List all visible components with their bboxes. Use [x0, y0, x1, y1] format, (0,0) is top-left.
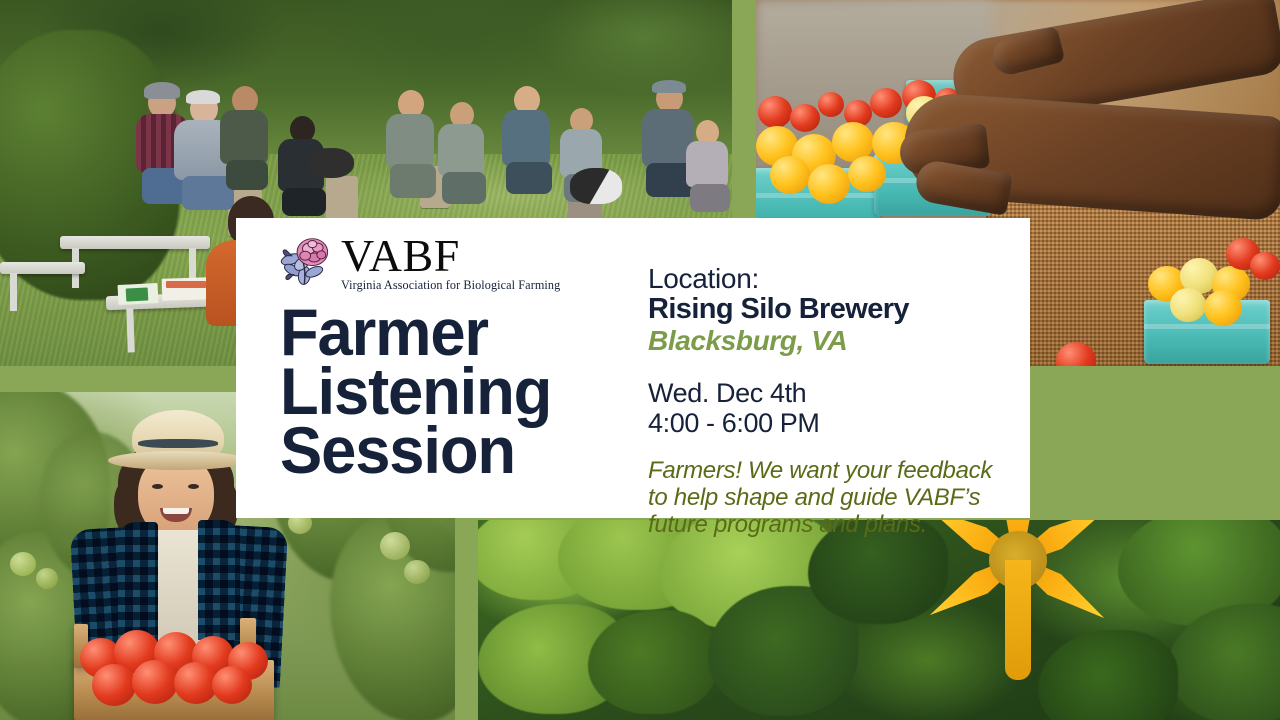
description-block: Farmers! We want your feedback to help s… — [648, 457, 1030, 538]
clover-flower-icon — [280, 236, 334, 288]
vabf-tagline: Virginia Association for Biological Farm… — [341, 278, 560, 292]
vabf-acronym: VABF — [341, 235, 560, 277]
card-left-column: VABF Virginia Association for Biological… — [236, 218, 636, 518]
squash-blossom-photo — [478, 520, 1280, 720]
description-line-3: future programs and plans. — [648, 511, 1030, 538]
headline-line-3: Session — [280, 421, 622, 480]
location-label: Location: — [648, 264, 1030, 293]
location-block: Location: Rising Silo Brewery Blacksburg… — [648, 264, 1030, 357]
event-info-card: VABF Virginia Association for Biological… — [236, 218, 1030, 518]
event-date: Wed. Dec 4th — [648, 378, 1030, 408]
vabf-logo: VABF Virginia Association for Biological… — [280, 235, 636, 297]
description-line-2: to help shape and guide VABF’s — [648, 484, 1030, 511]
poster-canvas: VABF Virginia Association for Biological… — [0, 0, 1280, 720]
location-city: Blacksburg, VA — [648, 325, 1030, 357]
event-time: 4:00 - 6:00 PM — [648, 408, 1030, 438]
description-line-1: Farmers! We want your feedback — [648, 457, 1030, 484]
vabf-logo-text: VABF Virginia Association for Biological… — [341, 235, 560, 292]
datetime-block: Wed. Dec 4th 4:00 - 6:00 PM — [648, 378, 1030, 438]
page-title: Farmer Listening Session — [280, 303, 622, 480]
location-venue: Rising Silo Brewery — [648, 293, 1030, 325]
card-right-column: Location: Rising Silo Brewery Blacksburg… — [636, 218, 1030, 518]
